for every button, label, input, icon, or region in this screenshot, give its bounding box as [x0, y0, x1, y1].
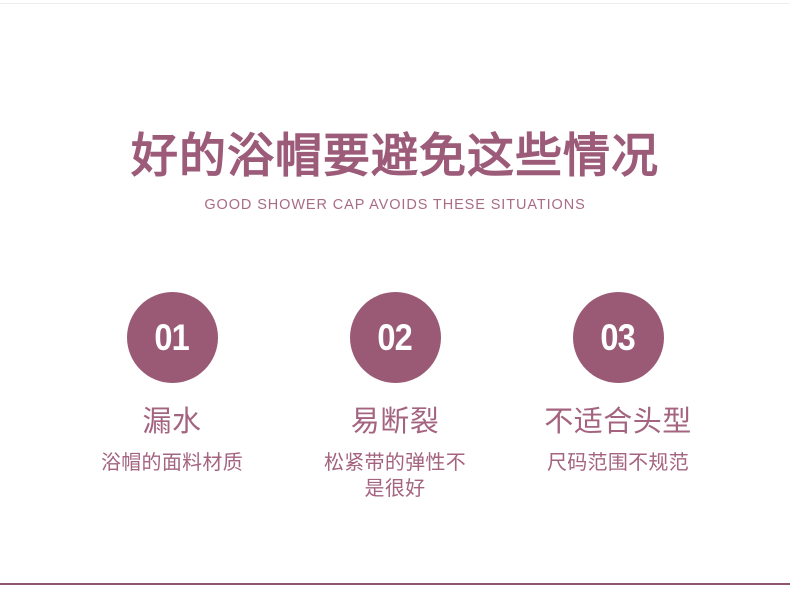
page-subtitle: GOOD SHOWER CAP AVOIDS THESE SITUATIONS — [0, 196, 790, 214]
list-item: 03 不适合头型 尺码范围不规范 — [507, 292, 730, 475]
top-hairline — [0, 3, 790, 4]
item-description: 尺码范围不规范 — [547, 438, 689, 475]
item-description: 松紧带的弹性不是很好 — [315, 438, 475, 501]
list-item: 02 易断裂 松紧带的弹性不是很好 — [284, 292, 507, 501]
badge-number-label: 03 — [601, 319, 635, 356]
list-item: 01 漏水 浴帽的面料材质 — [61, 292, 284, 475]
item-description: 浴帽的面料材质 — [101, 438, 243, 475]
number-badge: 02 — [350, 292, 441, 383]
number-badge: 01 — [127, 292, 218, 383]
feature-list: 01 漏水 浴帽的面料材质 02 易断裂 松紧带的弹性不是很好 03 不适合头型… — [0, 292, 790, 501]
item-heading: 易断裂 — [351, 383, 440, 438]
number-badge: 03 — [573, 292, 664, 383]
bottom-divider — [0, 583, 790, 585]
item-heading: 不适合头型 — [544, 383, 692, 438]
badge-number-label: 02 — [378, 319, 412, 356]
promo-banner: 好的浴帽要避免这些情况 GOOD SHOWER CAP AVOIDS THESE… — [0, 0, 790, 589]
page-title: 好的浴帽要避免这些情况 — [0, 128, 790, 186]
header: 好的浴帽要避免这些情况 GOOD SHOWER CAP AVOIDS THESE… — [0, 128, 790, 214]
item-heading: 漏水 — [142, 383, 201, 438]
badge-number-label: 01 — [155, 319, 189, 356]
